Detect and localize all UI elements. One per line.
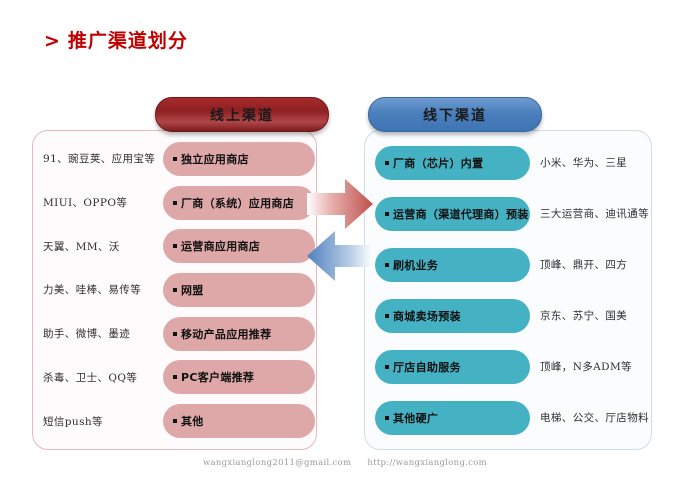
- bullet-square-icon: [385, 161, 389, 165]
- online-channel-row: MIUI、OPPO等厂商（系统）应用商店: [33, 184, 316, 222]
- offline-channel-row: 厅店自助服务顶峰，N多ADM等: [365, 348, 651, 386]
- online-channel-row: 杀毒、卫士、QQ等PC客户端推荐: [33, 358, 316, 396]
- online-channel-examples: 天翼、MM、沃: [43, 239, 163, 254]
- online-channel-row: 助手、微博、墨迹移动产品应用推荐: [33, 315, 316, 353]
- offline-channel-pill[interactable]: 厂商（芯片）内置: [375, 146, 530, 180]
- offline-channel-pill-label: 其他硬广: [393, 410, 438, 426]
- offline-channel-pill[interactable]: 其他硬广: [375, 401, 530, 435]
- offline-channel-row: 其他硬广电梯、公交、厅店物料: [365, 399, 651, 437]
- online-channel-examples: 助手、微博、墨迹: [43, 326, 163, 341]
- offline-channel-examples: 京东、苏宁、国美: [540, 308, 651, 323]
- online-channel-panel: 91、豌豆荚、应用宝等独立应用商店MIUI、OPPO等厂商（系统）应用商店天翼、…: [32, 130, 317, 450]
- offline-channel-row-list: 厂商（芯片）内置小米、华为、三星运营商（渠道代理商）预装三大运营商、迪讯通等刷机…: [365, 131, 651, 449]
- offline-channel-pill[interactable]: 厅店自助服务: [375, 350, 530, 384]
- online-channel-pill[interactable]: 厂商（系统）应用商店: [163, 186, 315, 220]
- offline-channel-pill-label: 刷机业务: [393, 257, 438, 273]
- online-channel-row: 短信push等其他: [33, 402, 316, 440]
- offline-channel-examples: 电梯、公交、厅店物料: [540, 410, 651, 425]
- offline-channel-pill-label: 运营商（渠道代理商）预装: [393, 206, 529, 222]
- online-channel-examples: MIUI、OPPO等: [43, 195, 163, 210]
- online-channel-pill[interactable]: 网盟: [163, 273, 315, 307]
- online-channel-pill-label: 独立应用商店: [181, 151, 249, 167]
- footer-url: http://wangxianglong.com: [367, 458, 487, 468]
- arrow-left-blue-icon: [305, 228, 375, 284]
- online-channel-examples: 杀毒、卫士、QQ等: [43, 370, 163, 385]
- online-channel-header: 线上渠道: [155, 97, 329, 132]
- arrow-right-red-icon: [305, 176, 375, 232]
- offline-channel-row: 刷机业务顶峰、鼎开、四方: [365, 246, 651, 284]
- online-channel-header-label: 线上渠道: [210, 105, 274, 125]
- online-channel-pill[interactable]: 运营商应用商店: [163, 229, 315, 263]
- online-channel-pill-label: 厂商（系统）应用商店: [181, 195, 294, 211]
- online-channel-examples: 力美、哇棒、易传等: [43, 282, 163, 297]
- online-channel-examples: 短信push等: [43, 414, 163, 429]
- offline-channel-examples: 顶峰、鼎开、四方: [540, 257, 651, 272]
- bullet-square-icon: [385, 314, 389, 318]
- footer-email: wangxianglong2011@gmail.com: [203, 458, 351, 468]
- bullet-square-icon: [173, 244, 177, 248]
- online-channel-pill-label: 其他: [181, 413, 204, 429]
- offline-channel-row: 商城卖场预装京东、苏宁、国美: [365, 297, 651, 335]
- online-channel-row: 91、豌豆荚、应用宝等独立应用商店: [33, 140, 316, 178]
- title-text: 推广渠道划分: [68, 30, 188, 52]
- online-channel-pill-label: 移动产品应用推荐: [181, 326, 271, 342]
- offline-channel-pill[interactable]: 商城卖场预装: [375, 299, 530, 333]
- offline-channel-row: 厂商（芯片）内置小米、华为、三星: [365, 144, 651, 182]
- online-channel-pill[interactable]: 移动产品应用推荐: [163, 317, 315, 351]
- bullet-square-icon: [385, 365, 389, 369]
- online-channel-pill[interactable]: 独立应用商店: [163, 142, 315, 176]
- online-channel-pill-label: 网盟: [181, 282, 204, 298]
- offline-channel-pill-label: 厅店自助服务: [393, 359, 461, 375]
- offline-channel-pill-label: 厂商（芯片）内置: [393, 155, 483, 171]
- bullet-square-icon: [173, 157, 177, 161]
- bullet-square-icon: [173, 288, 177, 292]
- offline-channel-examples: 小米、华为、三星: [540, 155, 651, 170]
- online-channel-pill-label: PC客户端推荐: [181, 369, 254, 385]
- page-title: >推广渠道划分: [44, 26, 188, 53]
- offline-channel-examples: 顶峰，N多ADM等: [540, 359, 651, 374]
- online-channel-row: 天翼、MM、沃运营商应用商店: [33, 227, 316, 265]
- offline-channel-examples: 三大运营商、迪讯通等: [540, 206, 651, 221]
- title-chevron: >: [44, 30, 61, 52]
- bullet-square-icon: [173, 201, 177, 205]
- offline-channel-pill[interactable]: 刷机业务: [375, 248, 530, 282]
- online-channel-row: 力美、哇棒、易传等网盟: [33, 271, 316, 309]
- offline-channel-row: 运营商（渠道代理商）预装三大运营商、迪讯通等: [365, 195, 651, 233]
- bullet-square-icon: [173, 375, 177, 379]
- online-channel-row-list: 91、豌豆荚、应用宝等独立应用商店MIUI、OPPO等厂商（系统）应用商店天翼、…: [33, 131, 316, 449]
- offline-channel-header-label: 线下渠道: [423, 105, 487, 125]
- bullet-square-icon: [385, 212, 389, 216]
- bullet-square-icon: [385, 416, 389, 420]
- online-channel-pill-label: 运营商应用商店: [181, 238, 260, 254]
- offline-channel-pill[interactable]: 运营商（渠道代理商）预装: [375, 197, 530, 231]
- bullet-square-icon: [385, 263, 389, 267]
- online-channel-examples: 91、豌豆荚、应用宝等: [43, 151, 163, 166]
- offline-channel-panel: 厂商（芯片）内置小米、华为、三星运营商（渠道代理商）预装三大运营商、迪讯通等刷机…: [364, 130, 652, 450]
- bullet-square-icon: [173, 419, 177, 423]
- bullet-square-icon: [173, 332, 177, 336]
- online-channel-pill[interactable]: PC客户端推荐: [163, 360, 315, 394]
- footer-credit: wangxianglong2011@gmail.comhttp://wangxi…: [0, 458, 690, 468]
- offline-channel-pill-label: 商城卖场预装: [393, 308, 461, 324]
- offline-channel-header: 线下渠道: [368, 97, 542, 132]
- online-channel-pill[interactable]: 其他: [163, 404, 315, 438]
